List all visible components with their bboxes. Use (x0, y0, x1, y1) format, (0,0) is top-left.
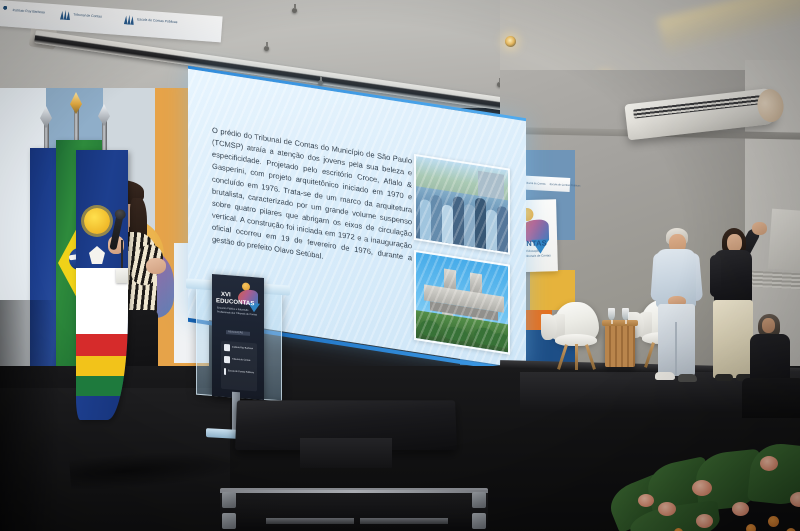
speaker-lanyard (121, 240, 123, 270)
ceiling-sprinkler (292, 8, 297, 13)
water-glass (622, 308, 629, 320)
side-table-top (602, 320, 638, 326)
panelist-woman-left-arm (710, 255, 721, 297)
sponsor-logo-icon (224, 368, 226, 375)
berry (768, 516, 779, 527)
monitor-mount (300, 438, 392, 468)
panelist-woman-raised-hand (752, 222, 767, 235)
lectern-sponsor-row: Instituto Ruy Barbosa (224, 344, 254, 353)
panelist-man-shoe (655, 372, 675, 380)
road-case-corner (472, 492, 486, 508)
photo-person (475, 197, 486, 249)
photo-person (497, 206, 508, 253)
lectern-sponsor-label: Escola de Contas Públicas (228, 370, 254, 375)
floral-arrangement (600, 440, 800, 531)
panelist-man-shoe (678, 374, 697, 382)
sponsor-logo-icon (224, 344, 230, 351)
road-case (220, 488, 488, 531)
road-case-edge (220, 490, 488, 493)
road-case-corner (222, 492, 236, 508)
pernambuco-sun-icon (84, 208, 110, 234)
backdrop-logo-2: Tribunal de Contas (60, 9, 102, 23)
pernambuco-flag (76, 150, 128, 420)
lectern-sponsor-label: Tribunal de Contas (232, 359, 250, 363)
speaker-gesturing-hand (146, 258, 166, 274)
ceiling-downlight (505, 36, 516, 47)
pernambuco-rainbow-shape (89, 246, 105, 264)
photo-person (442, 204, 453, 244)
photo-person (464, 204, 475, 248)
backdrop-logo-1: Instituto Ruy Barbosa (0, 4, 45, 18)
sponsor-logo-icon (224, 356, 230, 363)
slide-image-students (414, 154, 510, 255)
backdrop-logo-3: Escola de Contas Públicas (124, 13, 178, 28)
lectern-sponsor-row: Escola de Contas Públicas (224, 368, 254, 377)
lectern-sponsor-row: Tribunal de Contas (224, 356, 254, 365)
pernambuco-red-band (76, 334, 128, 356)
lectern-edition: XVI (221, 292, 231, 299)
flower (790, 492, 800, 507)
court-icon (60, 9, 71, 21)
foreground-shadow (0, 300, 60, 531)
lectern-sponsor-block: Instituto Ruy Barbosa Tribunal de Contas… (221, 341, 257, 392)
sponsor-label-2: Tribunal de Contas (524, 181, 546, 185)
road-case-corner (222, 513, 236, 529)
lectern-sponsor-label: Instituto Ruy Barbosa (232, 347, 253, 351)
panelist-woman-shoe (715, 374, 733, 381)
backdrop-logo-label: Instituto Ruy Barbosa (12, 8, 45, 15)
road-case-latch (266, 518, 354, 524)
flower (696, 514, 713, 528)
road-case-corner (472, 513, 486, 529)
panelist-man-leg-seam (675, 322, 677, 376)
backdrop-logo-label: Tribunal de Contas (73, 13, 102, 19)
draped-table (742, 378, 800, 418)
pernambuco-green-band (76, 376, 128, 396)
flower (760, 456, 778, 471)
wall-panel (768, 209, 800, 272)
flower (732, 502, 749, 516)
photo-person (431, 194, 442, 242)
pernambuco-yellow-band (76, 356, 128, 376)
photo-person (420, 199, 431, 241)
chair-leg (575, 344, 578, 370)
road-case-latch (360, 518, 448, 524)
school-icon (124, 13, 135, 25)
photo-person (453, 196, 464, 246)
berry (746, 524, 756, 531)
water-glass (608, 308, 615, 320)
photo-person (486, 209, 497, 251)
speaker-name-badge (116, 268, 128, 283)
conference-photo-scene: PR Instituto Ruy Barbosa Tribunal de Con… (0, 0, 800, 531)
flower (638, 494, 654, 507)
backdrop-logo-label: Escola de Contas Públicas (137, 18, 178, 25)
flower (658, 502, 676, 516)
chair-wing (541, 314, 557, 340)
slide-image-building (414, 250, 510, 355)
ceiling-sprinkler (264, 46, 269, 51)
sponsor-label-3: Escola de Contas Públicas (550, 182, 581, 187)
slide-body-text: O prédio do Tribunal de Contas do Municí… (212, 125, 412, 277)
seated-attendee-body (750, 334, 790, 382)
lectern-branding-panel: XVI EDUCONTAS Encontro Público e Educaçã… (212, 274, 264, 400)
flower (692, 480, 712, 496)
seated-attendee-face (762, 318, 775, 333)
panelist-woman-trousers (713, 300, 753, 378)
side-table (605, 323, 635, 367)
wall-vent-grille (748, 270, 800, 289)
institute-icon (0, 4, 10, 16)
